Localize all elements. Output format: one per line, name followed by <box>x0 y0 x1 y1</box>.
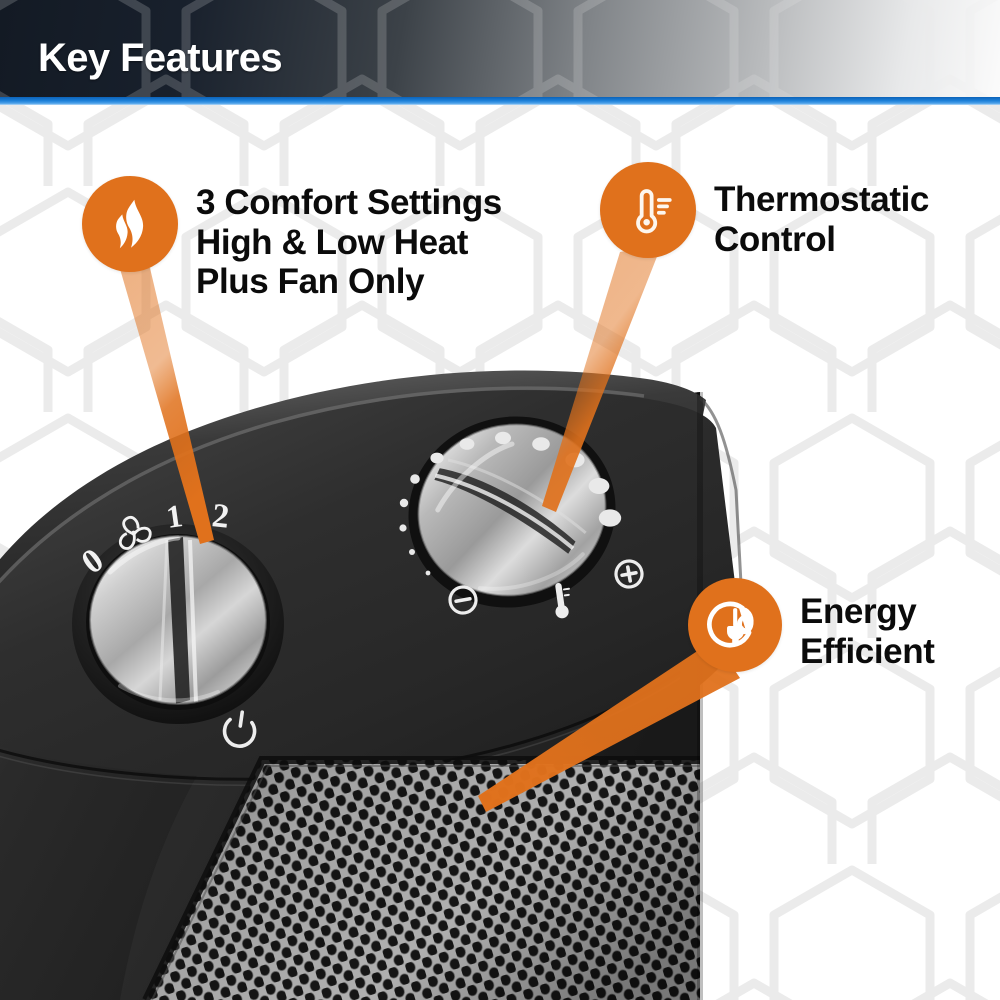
callout-thermostat-text: Thermostatic Control <box>714 180 929 259</box>
callout-line: High & Low Heat <box>196 223 502 263</box>
header-bar: Key Features <box>0 0 1000 97</box>
infographic-canvas: 0 1 2 <box>0 0 1000 1000</box>
callout-comfort-text: 3 Comfort Settings High & Low Heat Plus … <box>196 183 502 302</box>
header-accent-rule <box>0 97 1000 105</box>
page-title: Key Features <box>38 36 282 81</box>
pointer-thermostat <box>542 244 662 512</box>
flame-icon <box>99 193 161 255</box>
plug-leaf-badge <box>688 578 782 672</box>
callout-line: Efficient <box>800 632 934 672</box>
callout-line: Plus Fan Only <box>196 262 502 302</box>
pointer-comfort <box>118 262 214 544</box>
flame-badge <box>82 176 178 272</box>
thermometer-icon <box>619 181 677 239</box>
callout-line: Thermostatic <box>714 180 929 220</box>
callout-comfort-settings: 3 Comfort Settings High & Low Heat Plus … <box>82 176 502 302</box>
callout-line: 3 Comfort Settings <box>196 183 502 223</box>
callout-energy-text: Energy Efficient <box>800 592 934 671</box>
callout-line: Control <box>714 220 929 260</box>
thermometer-badge <box>600 162 696 258</box>
pointer-lines <box>0 0 1000 1000</box>
plug-leaf-icon <box>705 595 765 655</box>
callout-thermostatic-control: Thermostatic Control <box>600 162 929 259</box>
callout-line: Energy <box>800 592 934 632</box>
callout-energy-efficient: Energy Efficient <box>688 578 934 672</box>
